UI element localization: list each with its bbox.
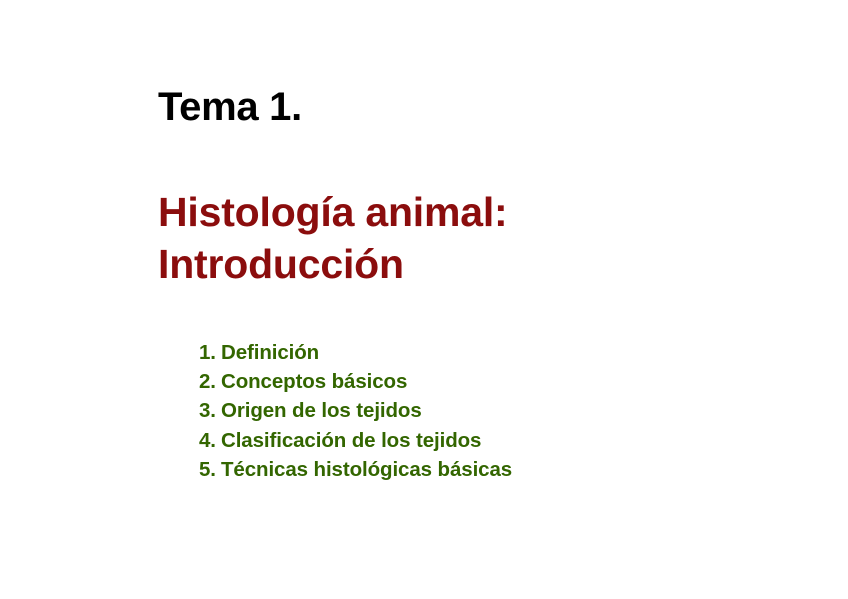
list-item: 5.Técnicas histológicas básicas [199,455,512,484]
main-heading: Histología animal: Introducción [158,186,508,290]
slide-page: Tema 1. Histología animal: Introducción … [0,0,848,599]
list-item-number: 2. [199,367,221,396]
list-item-number: 4. [199,426,221,455]
main-heading-line-1: Histología animal: [158,186,508,238]
page-title: Tema 1. [158,84,302,130]
list-item-label: Conceptos básicos [221,370,407,393]
list-item-number: 5. [199,455,221,484]
list-item-label: Origen de los tejidos [221,399,422,422]
list-item-label: Definición [221,341,319,364]
slide-content-area: Tema 1. Histología animal: Introducción … [0,0,848,599]
list-item: 4.Clasificación de los tejidos [199,426,512,455]
list-item-number: 1. [199,338,221,367]
list-item: 2.Conceptos básicos [199,367,512,396]
table-of-contents-list: 1.Definición 2.Conceptos básicos 3.Orige… [199,338,512,484]
list-item-number: 3. [199,396,221,425]
list-item-label: Técnicas histológicas básicas [221,458,512,481]
list-item-label: Clasificación de los tejidos [221,429,481,452]
list-item: 1.Definición [199,338,512,367]
main-heading-line-2: Introducción [158,238,508,290]
list-item: 3.Origen de los tejidos [199,396,512,425]
